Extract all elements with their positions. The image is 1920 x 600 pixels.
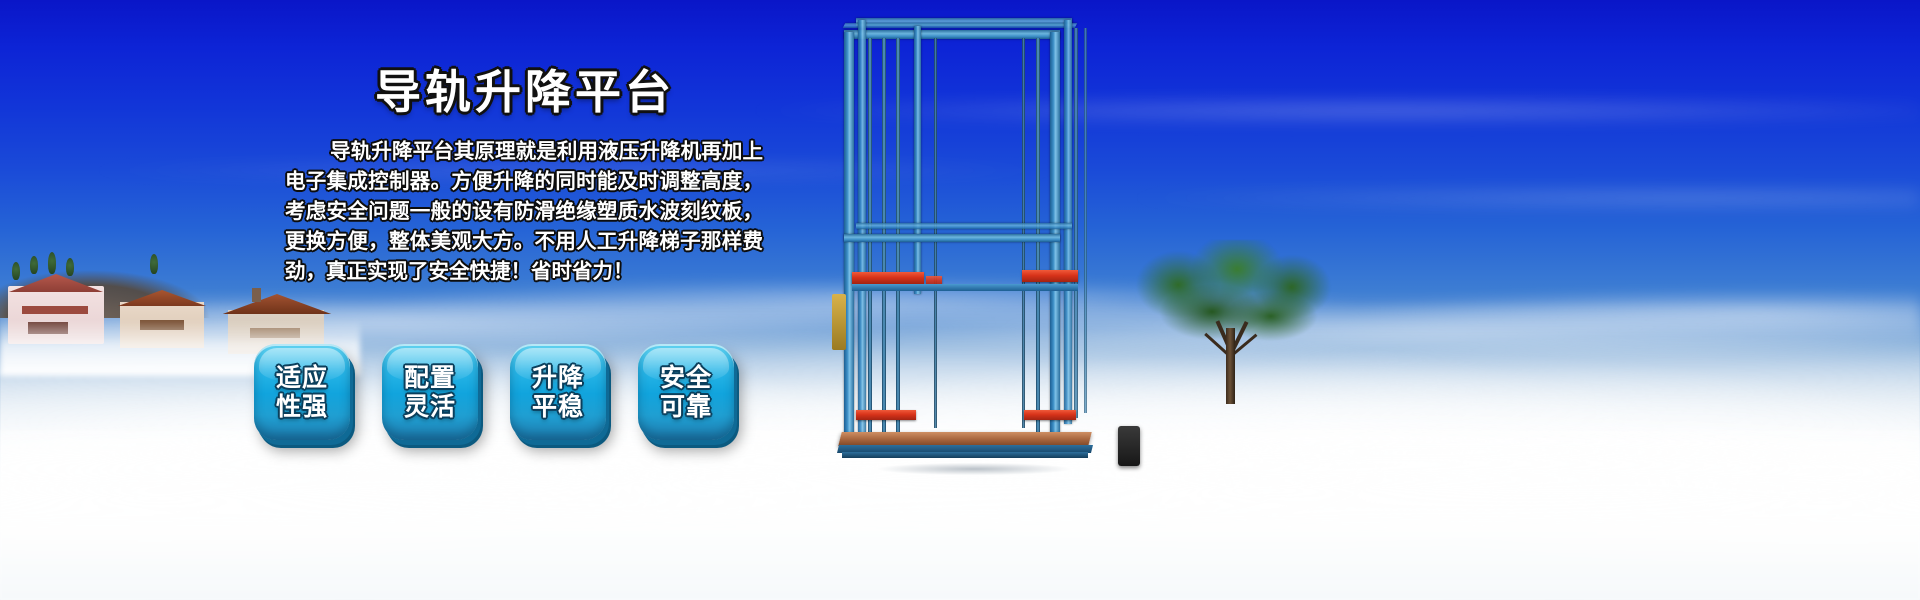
lift-mid-beam-back	[856, 223, 1072, 229]
lift-carriage-red-bar-left	[852, 272, 924, 284]
feature-label-line1: 升降	[532, 363, 584, 392]
page-title: 导轨升降平台	[375, 56, 675, 122]
lift-ground-shadow	[834, 460, 1114, 478]
tree-trunk	[1226, 328, 1235, 404]
lift-top-beam-diagonal	[843, 23, 1077, 28]
guide-rail-lift-platform-image	[826, 18, 1126, 468]
hydraulic-pump-unit	[1118, 426, 1140, 466]
feature-label-line1: 配置	[404, 363, 456, 392]
small-tree-icon	[48, 252, 56, 274]
feature-label-line2: 性强	[276, 392, 328, 421]
feature-button-configuration[interactable]: 配置 灵活	[382, 344, 478, 440]
small-tree-icon	[150, 254, 158, 274]
lift-mid-beam	[844, 234, 1060, 242]
product-banner: 导轨升降平台 导轨升降平台其原理就是利用液压升降机再加上电子集成控制器。方便升降…	[0, 0, 1920, 600]
lift-carriage-frame	[852, 284, 1078, 291]
lift-lower-red-bar-right	[1024, 410, 1076, 420]
feature-label: 适应 性强	[276, 363, 328, 421]
lift-chain	[934, 38, 937, 428]
small-tree-icon	[12, 262, 20, 280]
lift-lower-red-bar-left	[856, 410, 916, 420]
hill-shape	[0, 258, 240, 318]
house-roof	[0, 274, 112, 292]
small-tree-icon	[30, 256, 38, 274]
house-chimney	[252, 288, 261, 302]
lift-mast-back-right	[1064, 20, 1072, 424]
feature-button-safety[interactable]: 安全 可靠	[638, 344, 734, 440]
feature-label-line2: 灵活	[404, 392, 456, 421]
house-shape	[8, 286, 104, 344]
lift-control-box	[832, 294, 846, 350]
house-shape	[120, 302, 204, 348]
feature-label: 升降 平稳	[532, 363, 584, 421]
lift-base-frame	[842, 452, 1088, 458]
feature-label: 配置 灵活	[404, 363, 456, 421]
feature-button-row: 适应 性强 配置 灵活 升降 平稳 安全 可靠	[254, 344, 734, 440]
house-window	[140, 320, 184, 330]
feature-button-smooth-lifting[interactable]: 升降 平稳	[510, 344, 606, 440]
feature-label-line2: 平稳	[532, 392, 584, 421]
house-roof	[218, 294, 336, 314]
lift-platform-deck	[838, 432, 1091, 446]
lift-mast-mid	[914, 26, 921, 294]
feature-label-line1: 适应	[276, 363, 328, 392]
lift-chain	[1022, 38, 1025, 428]
feature-label: 安全 可靠	[660, 363, 712, 421]
house-roof	[112, 290, 212, 306]
house-window	[28, 322, 68, 334]
feature-label-line2: 可靠	[660, 392, 712, 421]
feature-label-line1: 安全	[660, 363, 712, 392]
small-tree-icon	[66, 258, 74, 276]
lift-guide-rail	[1074, 28, 1078, 418]
house-balcony	[22, 306, 88, 314]
lift-top-beam	[844, 30, 1060, 39]
lift-guide-rail	[1084, 28, 1087, 413]
description-text: 导轨升降平台其原理就是利用液压升降机再加上电子集成控制器。方便升降的同时能及时调…	[285, 136, 763, 286]
tree-image	[1110, 240, 1350, 420]
lift-carriage-red-bar-right	[1022, 270, 1078, 282]
house-window	[250, 328, 300, 338]
feature-button-adaptability[interactable]: 适应 性强	[254, 344, 350, 440]
